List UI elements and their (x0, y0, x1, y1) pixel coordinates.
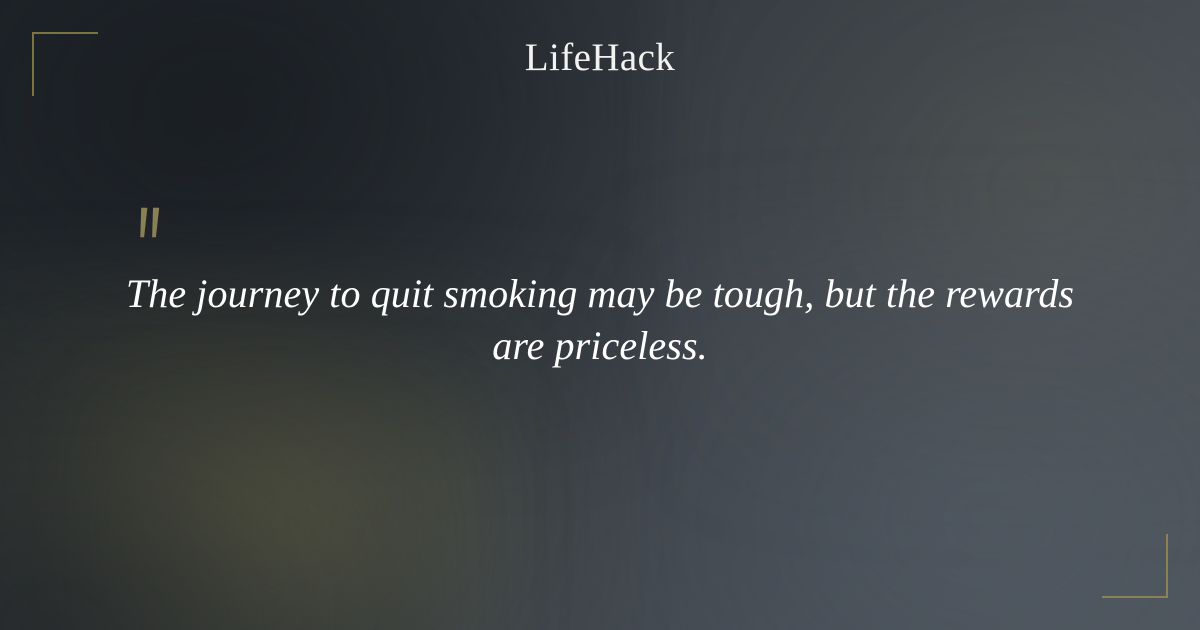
background-dark-bottom-left (0, 360, 440, 630)
brand-logo-lifehack: LifeHack (0, 38, 1200, 77)
quote-text: The journey to quit smoking may be tough… (100, 268, 1100, 372)
quote-mark-icon (134, 204, 174, 244)
quote-block: The journey to quit smoking may be tough… (100, 268, 1100, 372)
quote-card: LifeHack The journey to quit smoking may… (0, 0, 1200, 630)
